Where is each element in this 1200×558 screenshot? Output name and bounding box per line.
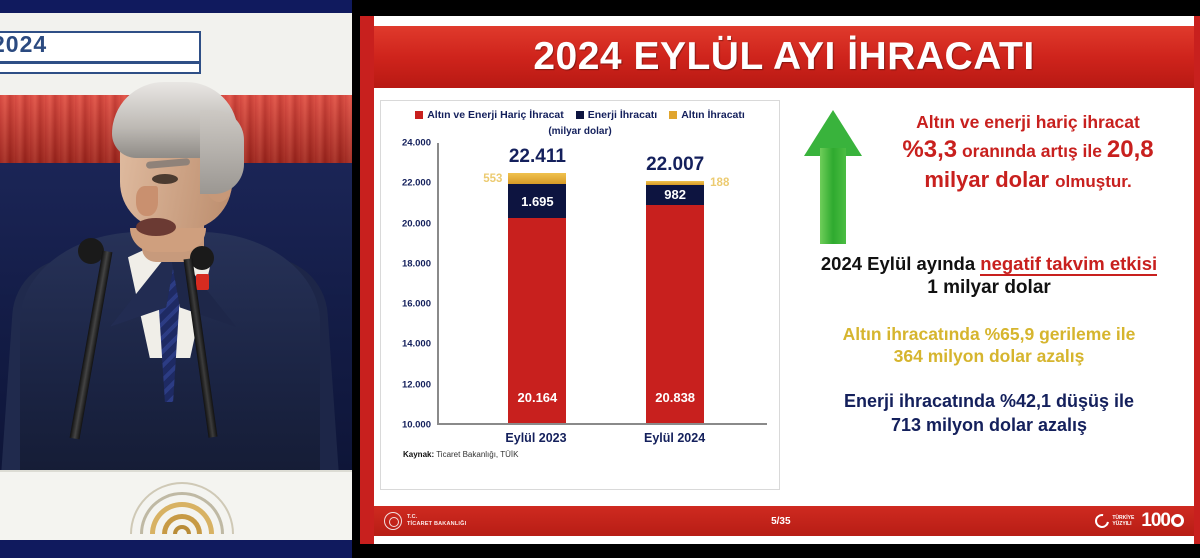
gold-value-label: 188 bbox=[710, 177, 729, 189]
bar-segment-red[interactable]: 20.838 bbox=[646, 205, 704, 423]
source-prefix: Kaynak: bbox=[403, 450, 434, 459]
chart-plot: 10.00012.00014.00016.00018.00020.00022.0… bbox=[389, 143, 771, 443]
growth-line-1: Altın ve enerji hariç ihracat bbox=[872, 112, 1184, 133]
stacked-bar[interactable]: 98220.838 bbox=[646, 181, 704, 423]
growth-value: 20,8 bbox=[1107, 136, 1154, 163]
turkiye-yuzyili-badge: TÜRKİYE YÜZYILI bbox=[1095, 514, 1134, 528]
calendar-effect-highlight: negatif takvim etkisi bbox=[980, 253, 1157, 276]
growth-percent: %3,3 bbox=[902, 136, 957, 163]
brand-line-2: YÜZYILI bbox=[1112, 521, 1134, 528]
growth-unit: milyar dolar bbox=[924, 167, 1049, 192]
bar-value-label: 20.838 bbox=[655, 390, 695, 405]
chart-legend: Altın ve Enerji Hariç İhracat Enerji İhr… bbox=[381, 101, 779, 121]
y-axis-tick: 14.000 bbox=[402, 339, 431, 350]
bar-value-label: 1.695 bbox=[521, 194, 554, 209]
chart-source: Kaynak: Ticaret Bakanlığı, TÜİK bbox=[403, 450, 518, 459]
legend-swatch-red bbox=[415, 111, 423, 119]
y-axis-tick: 10.000 bbox=[402, 420, 431, 431]
centenary-ring-icon bbox=[1171, 514, 1184, 527]
plot-area: 1.69520.16422.41155398220.83822.007188 bbox=[437, 143, 767, 425]
legend-item-1: Enerji İhracatı bbox=[576, 109, 657, 121]
slide-right-border bbox=[1194, 16, 1200, 544]
y-axis-tick: 20.000 bbox=[402, 218, 431, 229]
chart-panel: Altın ve Enerji Hariç İhracat Enerji İhr… bbox=[380, 100, 780, 490]
page-title: 2024 EYLÜL AYI İHRACATI bbox=[533, 35, 1034, 79]
centenary-logo: 100 bbox=[1141, 510, 1184, 532]
calendar-effect-pre: 2024 Eylül ayında bbox=[821, 253, 975, 274]
legend-item-2: Altın İhracatı bbox=[669, 109, 745, 121]
green-up-arrow-icon bbox=[804, 110, 862, 244]
highlight-block-3: Altın ihracatında %65,9 gerileme ile 364… bbox=[790, 323, 1188, 369]
y-axis: 10.00012.00014.00016.00018.00020.00022.0… bbox=[389, 143, 435, 425]
legend-label-1: Enerji İhracatı bbox=[588, 109, 657, 121]
y-axis-tick: 12.000 bbox=[402, 379, 431, 390]
brand-name: TÜRKİYE YÜZYILI bbox=[1112, 515, 1134, 528]
highlight-block-2: 2024 Eylül ayında negatif takvim etkisi … bbox=[790, 252, 1188, 301]
speaker-nose bbox=[136, 186, 158, 216]
ministry-line-2: TİCARET BAKANLIĞI bbox=[407, 521, 466, 528]
brand-number: 100 bbox=[1141, 510, 1170, 531]
stacked-bar[interactable]: 1.69520.164 bbox=[508, 173, 566, 423]
gold-value-label: 553 bbox=[483, 173, 502, 185]
slide-left-border bbox=[360, 16, 374, 544]
bar-total-label: 22.411 bbox=[509, 146, 566, 168]
growth-mid: oranında artış ile bbox=[962, 141, 1102, 161]
turkish-flag-pin bbox=[196, 274, 209, 290]
legend-label-2: Altın İhracatı bbox=[681, 109, 745, 121]
energy-decline-line-1: Enerji ihracatında %42,1 düşüş ile bbox=[790, 390, 1188, 413]
bar-value-label: 20.164 bbox=[518, 390, 558, 405]
speaker-hair-side bbox=[200, 110, 244, 194]
crescent-icon bbox=[1093, 511, 1112, 530]
slide-footer: T.C. TİCARET BAKANLIĞI 5/35 TÜRKİYE YÜZY… bbox=[374, 506, 1194, 536]
bar-group[interactable]: 1.69520.16422.411553 bbox=[508, 143, 566, 423]
ministry-line-1: T.C. bbox=[407, 514, 466, 521]
growth-tail: olmuştur. bbox=[1055, 172, 1132, 191]
y-axis-tick: 18.000 bbox=[402, 258, 431, 269]
video-bottom-bar bbox=[0, 540, 352, 558]
highlights-column: Altın ve enerji hariç ihracat %3,3 oranı… bbox=[790, 108, 1188, 437]
energy-decline-line-2: 713 milyon dolar azalış bbox=[790, 414, 1188, 437]
bar-group[interactable]: 98220.83822.007188 bbox=[646, 143, 704, 423]
gold-decline-line-2: 364 milyon dolar azalış bbox=[790, 345, 1188, 368]
bar-segment-navy[interactable]: 982 bbox=[646, 185, 704, 205]
bar-segment-gold[interactable] bbox=[508, 173, 566, 184]
slide-title-bar: 2024 EYLÜL AYI İHRACATI bbox=[374, 26, 1194, 88]
presentation-slide: 2024 EYLÜL AYI İHRACATI Altın ve Enerji … bbox=[360, 16, 1200, 544]
x-axis-label: Eylül 2023 bbox=[505, 431, 566, 445]
video-panel[interactable]: 2024 bbox=[0, 0, 352, 558]
gold-decline-line-1: Altın ihracatında %65,9 gerileme ile bbox=[790, 323, 1188, 346]
legend-label-0: Altın ve Enerji Hariç İhracat bbox=[427, 109, 564, 121]
legend-swatch-gold bbox=[669, 111, 677, 119]
calendar-effect-line-1: 2024 Eylül ayında negatif takvim etkisi bbox=[790, 252, 1188, 276]
bar-segment-red[interactable]: 20.164 bbox=[508, 218, 566, 423]
ministry-seal-icon bbox=[384, 512, 402, 530]
bar-segment-navy[interactable]: 1.695 bbox=[508, 184, 566, 218]
legend-swatch-navy bbox=[576, 111, 584, 119]
growth-line-3: milyar dolar olmuştur. bbox=[872, 167, 1184, 194]
source-text: Ticaret Bakanlığı, TÜİK bbox=[436, 450, 518, 459]
speaker-eye bbox=[152, 174, 178, 184]
growth-statement: Altın ve enerji hariç ihracat %3,3 oranı… bbox=[872, 112, 1184, 193]
y-axis-tick: 22.000 bbox=[402, 178, 431, 189]
highlight-block-4: Enerji ihracatında %42,1 düşüş ile 713 m… bbox=[790, 390, 1188, 437]
footer-ministry-logo: T.C. TİCARET BAKANLIĞI bbox=[384, 512, 466, 530]
bar-total-label: 22.007 bbox=[646, 154, 704, 176]
highlight-block-1: Altın ve enerji hariç ihracat %3,3 oranı… bbox=[790, 108, 1188, 250]
legend-item-0: Altın ve Enerji Hariç İhracat bbox=[415, 109, 564, 121]
growth-line-2: %3,3 oranında artış ile 20,8 bbox=[872, 135, 1184, 164]
speaker-mouth bbox=[136, 218, 176, 236]
y-axis-tick: 16.000 bbox=[402, 299, 431, 310]
screenshot-root: 2024 bbox=[0, 0, 1200, 558]
bar-value-label: 982 bbox=[664, 187, 686, 202]
ministry-name: T.C. TİCARET BAKANLIĞI bbox=[407, 514, 466, 529]
chart-units-label: (milyar dolar) bbox=[381, 126, 779, 137]
calendar-effect-line-2: 1 milyar dolar bbox=[790, 276, 1188, 301]
page-number: 5/35 bbox=[771, 516, 790, 527]
x-axis-label: Eylül 2024 bbox=[644, 431, 705, 445]
y-axis-tick: 24.000 bbox=[402, 138, 431, 149]
footer-brand: TÜRKİYE YÜZYILI 100 bbox=[1095, 510, 1184, 532]
ministry-emblem-icon bbox=[128, 478, 236, 534]
